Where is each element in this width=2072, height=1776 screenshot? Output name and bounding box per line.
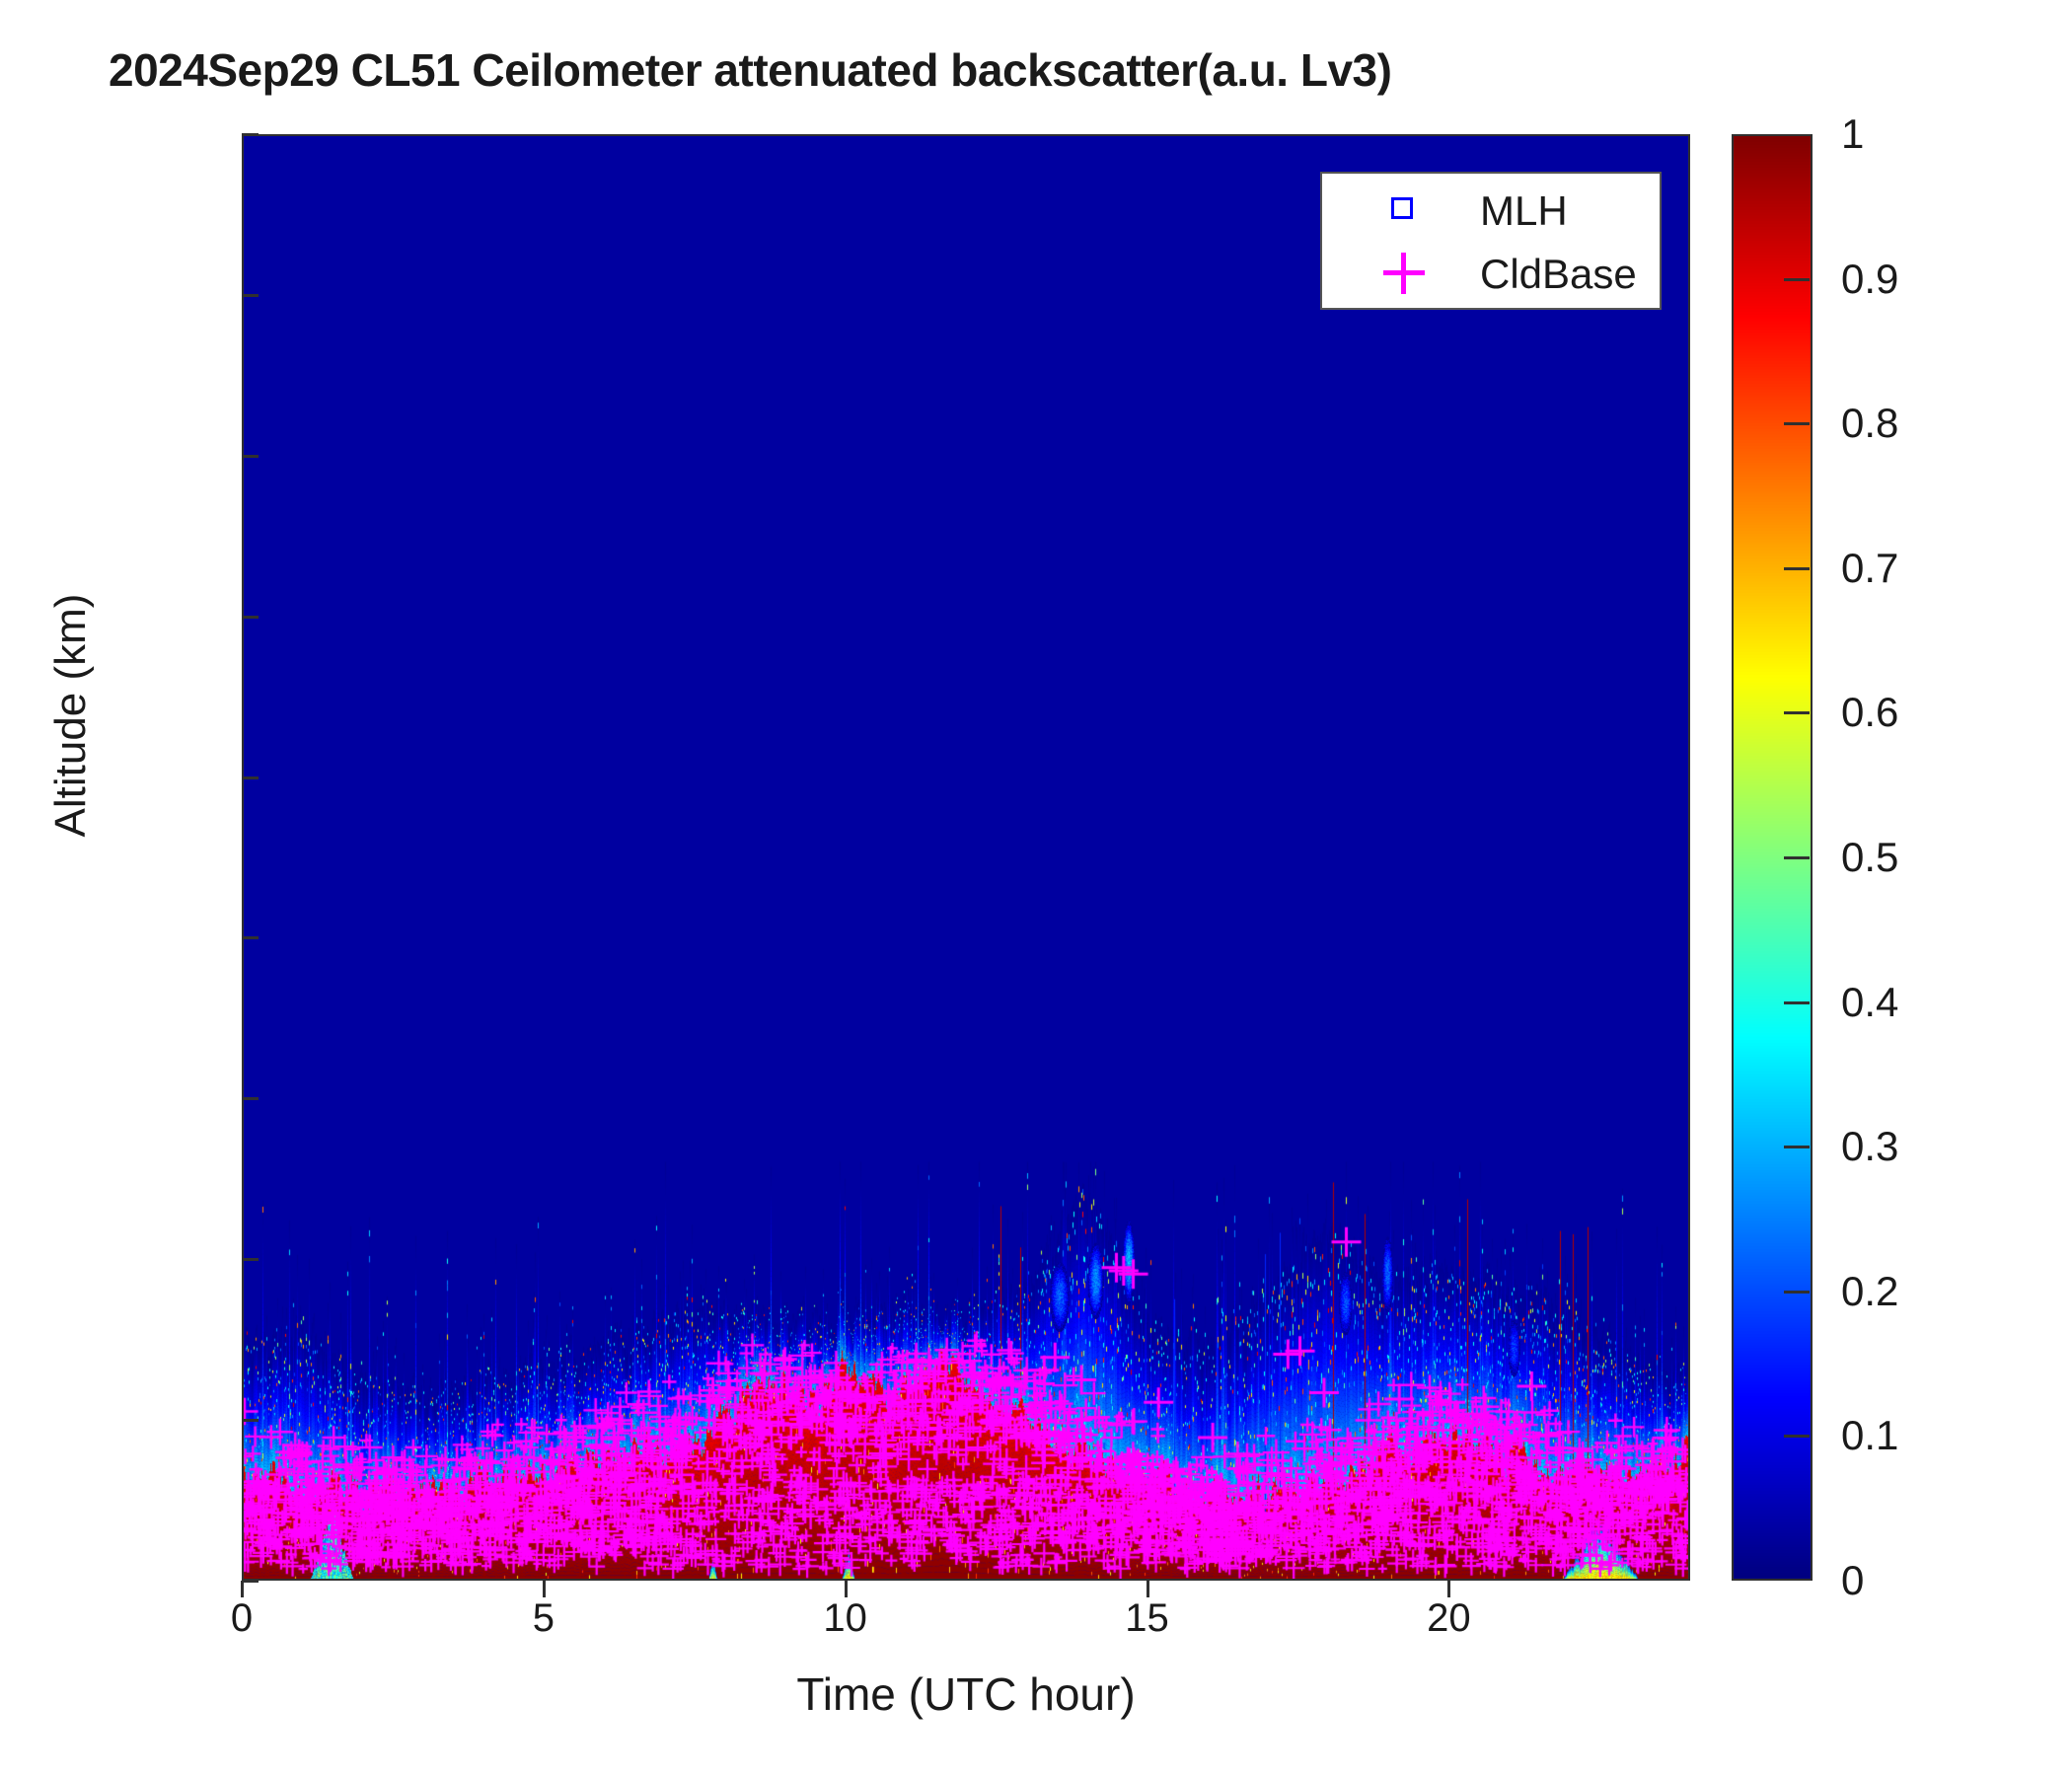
x-tick-mark — [845, 1581, 848, 1597]
x-tick-label: 15 — [1069, 1596, 1226, 1641]
colorbar-tick-mark — [1784, 422, 1810, 425]
y-tick-mark — [242, 777, 259, 779]
x-tick-label: 20 — [1369, 1596, 1527, 1641]
colorbar-tick-label: 0 — [1841, 1560, 1864, 1601]
legend-label-cldbase: CldBase — [1480, 243, 1637, 306]
legend: MLH CldBase — [1320, 172, 1662, 310]
colorbar-tick-label: 0.6 — [1841, 692, 1898, 733]
chart-title: 2024Sep29 CL51 Ceilometer attenuated bac… — [109, 43, 1885, 97]
y-tick-mark — [242, 1258, 259, 1261]
colorbar-tick-label: 0.4 — [1841, 982, 1898, 1023]
plot-area — [242, 134, 1690, 1581]
colorbar-tick-label: 0.2 — [1841, 1271, 1898, 1312]
y-tick-mark — [242, 1419, 259, 1422]
colorbar-tick-label: 1 — [1841, 113, 1864, 155]
x-axis-label: Time (UTC hour) — [242, 1667, 1690, 1721]
y-tick-mark — [242, 294, 259, 297]
y-tick-mark — [242, 1580, 259, 1583]
colorbar-tick-mark — [1784, 1146, 1810, 1148]
x-tick-label: 0 — [163, 1596, 321, 1641]
colorbar-tick-label: 0.5 — [1841, 837, 1898, 878]
y-tick-mark — [242, 616, 259, 619]
colorbar-tick-mark — [1784, 1291, 1810, 1294]
colorbar-tick-label: 0.8 — [1841, 403, 1898, 444]
y-tick-mark — [242, 936, 259, 939]
colorbar-tick-label: 0.9 — [1841, 259, 1898, 300]
x-tick-mark — [1447, 1581, 1450, 1597]
y-tick-mark — [242, 133, 259, 136]
x-tick-label: 10 — [767, 1596, 925, 1641]
x-tick-mark — [543, 1581, 546, 1597]
colorbar-tick-label: 0.1 — [1841, 1415, 1898, 1456]
colorbar-tick-mark — [1784, 1435, 1810, 1438]
colorbar-tick-label: 0.7 — [1841, 548, 1898, 589]
colorbar-tick-mark — [1784, 856, 1810, 859]
backscatter-heatmap — [244, 136, 1688, 1579]
x-tick-mark — [241, 1581, 244, 1597]
colorbar-tick-mark — [1784, 278, 1810, 281]
colorbar-tick-mark — [1784, 1001, 1810, 1004]
colorbar-tick-mark — [1784, 711, 1810, 714]
legend-entry-mlh: MLH — [1322, 180, 1660, 243]
legend-entry-cldbase: CldBase — [1322, 243, 1660, 306]
y-tick-mark — [242, 1097, 259, 1100]
x-tick-label: 5 — [465, 1596, 623, 1641]
mlh-square-icon — [1379, 180, 1433, 243]
colorbar-tick-label: 0.3 — [1841, 1126, 1898, 1167]
colorbar-tick-mark — [1784, 567, 1810, 570]
y-tick-mark — [242, 455, 259, 458]
cldbase-plus-icon — [1379, 243, 1433, 306]
y-axis-label: Altitude (km) — [46, 400, 96, 1031]
figure-canvas: 2024Sep29 CL51 Ceilometer attenuated bac… — [0, 0, 2072, 1776]
x-tick-mark — [1147, 1581, 1149, 1597]
legend-label-mlh: MLH — [1480, 180, 1568, 243]
